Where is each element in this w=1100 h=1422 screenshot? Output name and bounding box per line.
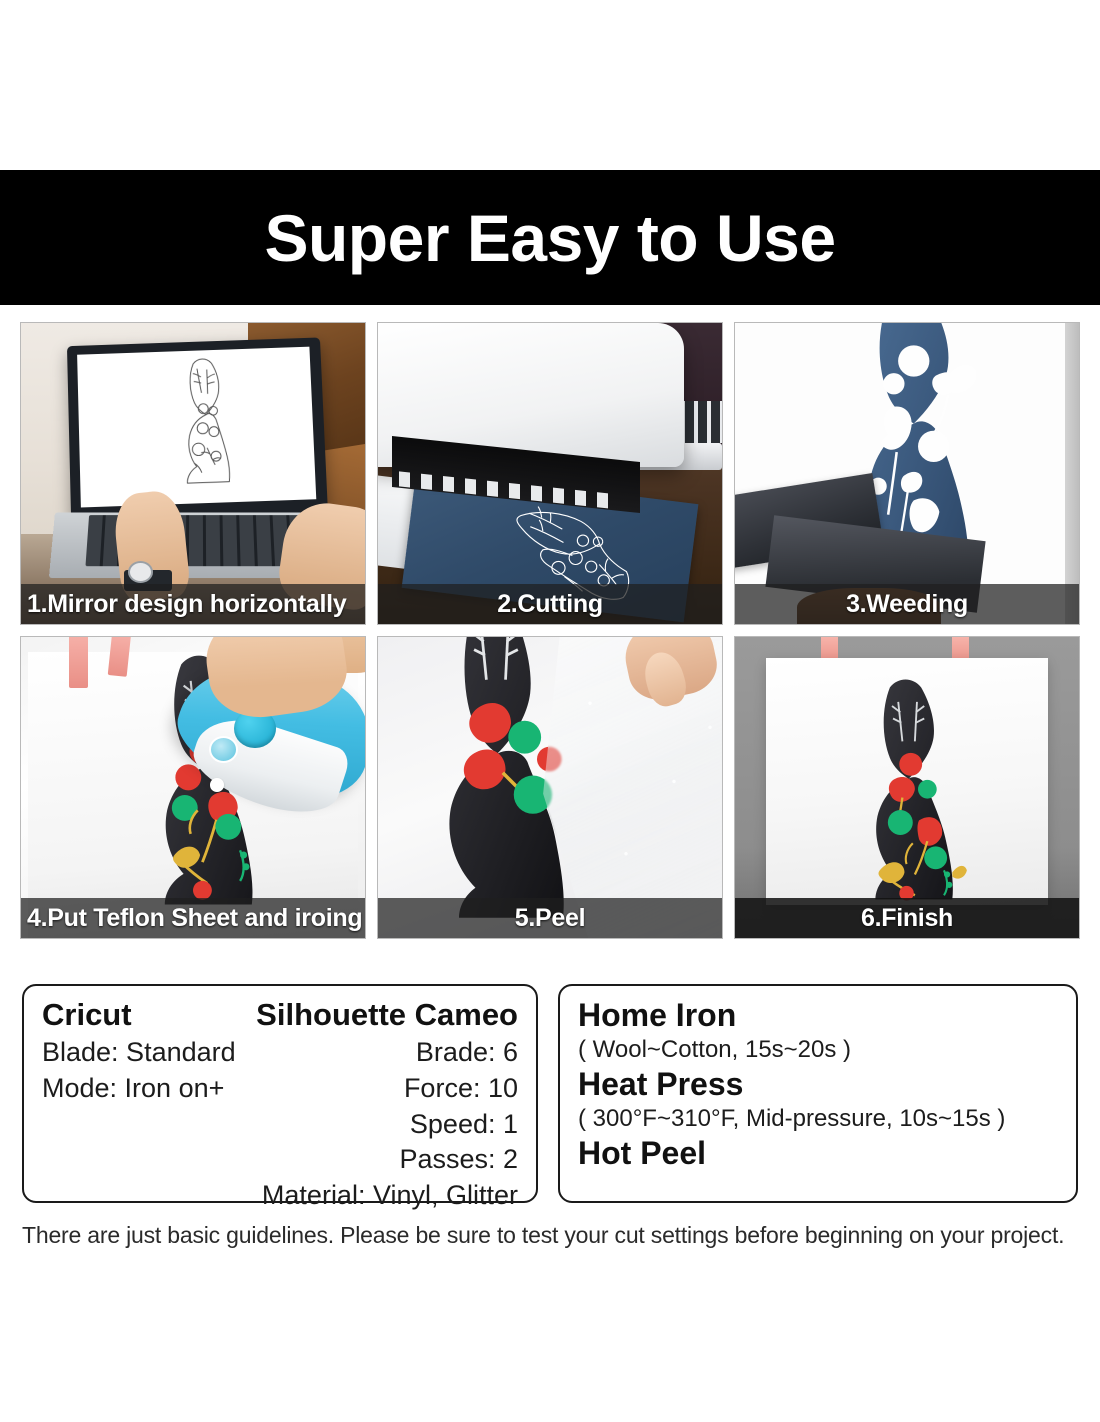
steps-grid: 1.Mirror design horizontally [20,322,1080,949]
settings-boxes: Cricut Blade: Standard Mode: Iron on+ Si… [22,984,1078,1203]
photo-cutting [378,323,722,624]
step-caption-5: 5.Peel [378,898,722,938]
cameo-brade: Brade: 6 [256,1035,518,1071]
step-panel-3: 3.Weeding [734,322,1080,625]
home-iron-detail: ( Wool~Cotton, 15s~20s ) [578,1035,1058,1065]
cameo-material: Material: Vinyl, Glitter [256,1178,518,1214]
home-iron-title: Home Iron [578,996,1058,1035]
step-caption-6: 6.Finish [735,898,1079,938]
page-title: Super Easy to Use [264,205,835,271]
cameo-column: Silhouette Cameo Brade: 6 Force: 10 Spee… [256,996,518,1214]
product-infographic: Super Easy to Use [0,0,1100,1422]
step-caption-1: 1.Mirror design horizontally [21,584,365,624]
cricut-mode: Mode: Iron on+ [42,1071,256,1107]
application-settings-box: Home Iron ( Wool~Cotton, 15s~20s ) Heat … [558,984,1078,1203]
heat-press-title: Heat Press [578,1065,1058,1104]
photo-ironing [21,637,365,938]
cameo-passes: Passes: 2 [256,1142,518,1178]
step-panel-4: 4.Put Teflon Sheet and iroing [20,636,366,939]
hot-peel-title: Hot Peel [578,1134,1058,1173]
step-panel-5: 5.Peel [377,636,723,939]
photo-mirror-design [21,323,365,624]
guidelines-note: There are just basic guidelines. Please … [22,1222,1082,1249]
photo-weeding [735,323,1079,624]
step-panel-1: 1.Mirror design horizontally [20,322,366,625]
photo-finish [735,637,1079,938]
step-panel-6: 6.Finish [734,636,1080,939]
step-caption-4: 4.Put Teflon Sheet and iroing [21,898,365,938]
banner: Super Easy to Use [0,170,1100,305]
machine-settings-box: Cricut Blade: Standard Mode: Iron on+ Si… [22,984,538,1203]
step-caption-3: 3.Weeding [735,584,1079,624]
cricut-title: Cricut [42,996,256,1035]
bunny-finished-icon [824,679,989,908]
cricut-column: Cricut Blade: Standard Mode: Iron on+ [42,996,256,1214]
bunny-outline-icon [147,354,264,493]
step-panel-2: 2.Cutting [377,322,723,625]
photo-peel [378,637,722,938]
step-caption-2: 2.Cutting [378,584,722,624]
cricut-blade: Blade: Standard [42,1035,256,1071]
heat-press-detail: ( 300°F~310°F, Mid-pressure, 10s~15s ) [578,1104,1058,1134]
cameo-title: Silhouette Cameo [256,996,518,1035]
cameo-force: Force: 10 [256,1071,518,1107]
cameo-speed: Speed: 1 [256,1107,518,1143]
